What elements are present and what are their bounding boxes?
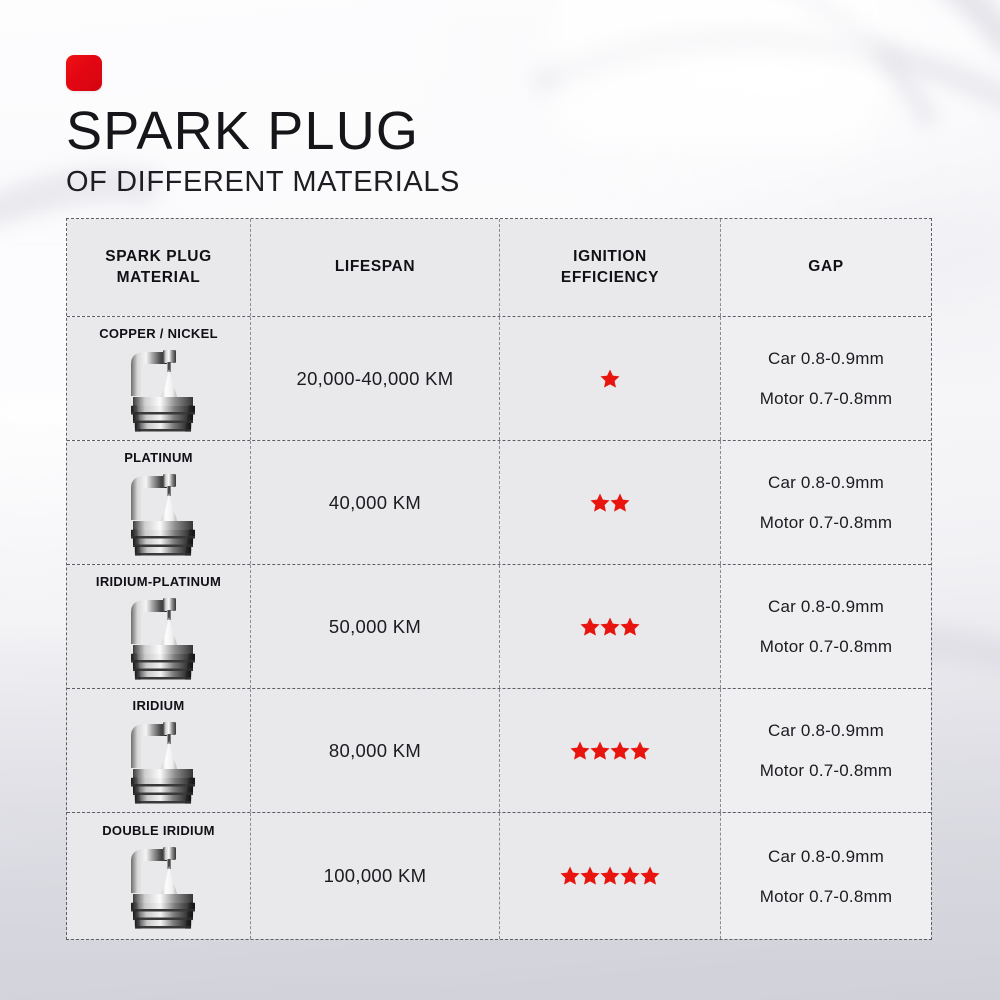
star-icon xyxy=(599,368,621,390)
ignition-star-rating xyxy=(580,616,640,638)
cell-lifespan: 80,000 KM xyxy=(251,689,500,812)
cell-gap: Car 0.8-0.9mmMotor 0.7-0.8mm xyxy=(721,317,931,440)
ignition-star-rating xyxy=(590,492,630,514)
material-label: PLATINUM xyxy=(124,450,193,465)
star-icon xyxy=(629,740,651,762)
gap-motor-value: Motor 0.7-0.8mm xyxy=(760,888,892,905)
page-subtitle: OF DIFFERENT MATERIALS xyxy=(66,166,460,199)
gap-car-value: Car 0.8-0.9mm xyxy=(768,474,884,491)
column-header-material: SPARK PLUG MATERIAL xyxy=(67,219,251,316)
column-header-lifespan: LIFESPAN xyxy=(251,219,500,316)
column-header-gap: GAP xyxy=(721,219,931,316)
cell-gap: Car 0.8-0.9mmMotor 0.7-0.8mm xyxy=(721,689,931,812)
star-icon xyxy=(569,740,591,762)
star-icon xyxy=(579,616,601,638)
table-row: DOUBLE IRIDIUM 100,000 KMCar 0.8-0.9mmMo… xyxy=(67,813,931,939)
star-icon xyxy=(589,492,611,514)
column-header-label: SPARK PLUG MATERIAL xyxy=(105,247,211,289)
gap-motor-value: Motor 0.7-0.8mm xyxy=(760,638,892,655)
cell-material: COPPER / NICKEL xyxy=(67,317,251,440)
cell-lifespan: 40,000 KM xyxy=(251,441,500,564)
star-icon xyxy=(559,865,581,887)
star-icon xyxy=(589,740,611,762)
cell-material: DOUBLE IRIDIUM xyxy=(67,813,251,939)
cell-material: IRIDIUM xyxy=(67,689,251,812)
table-header-row: SPARK PLUG MATERIAL LIFESPAN IGNITION EF… xyxy=(67,219,931,317)
ignition-star-rating xyxy=(600,368,620,390)
gap-car-value: Car 0.8-0.9mm xyxy=(768,848,884,865)
lifespan-value: 100,000 KM xyxy=(324,865,427,887)
star-icon xyxy=(609,740,631,762)
star-icon xyxy=(609,492,631,514)
table-row: IRIDIUM 80,000 KMCar 0.8-0.9mmMotor 0.7-… xyxy=(67,689,931,813)
gap-car-value: Car 0.8-0.9mm xyxy=(768,350,884,367)
lifespan-value: 20,000-40,000 KM xyxy=(296,368,453,390)
cell-lifespan: 50,000 KM xyxy=(251,565,500,688)
gap-motor-value: Motor 0.7-0.8mm xyxy=(760,762,892,779)
table-row: COPPER / NICKEL 20,000-40,000 KMCar 0.8-… xyxy=(67,317,931,441)
star-icon xyxy=(599,865,621,887)
ignition-star-rating xyxy=(570,740,650,762)
cell-ignition-efficiency xyxy=(500,813,721,939)
column-header-label: IGNITION EFFICIENCY xyxy=(561,247,659,289)
gap-car-value: Car 0.8-0.9mm xyxy=(768,722,884,739)
cell-gap: Car 0.8-0.9mmMotor 0.7-0.8mm xyxy=(721,813,931,939)
spark-plug-image xyxy=(107,714,211,806)
gap-motor-value: Motor 0.7-0.8mm xyxy=(760,514,892,531)
spark-plug-image xyxy=(107,466,211,558)
material-label: DOUBLE IRIDIUM xyxy=(102,823,215,838)
cell-lifespan: 100,000 KM xyxy=(251,813,500,939)
column-header-ignition-efficiency: IGNITION EFFICIENCY xyxy=(500,219,721,316)
cell-ignition-efficiency xyxy=(500,689,721,812)
spark-plug-image xyxy=(107,590,211,682)
star-icon xyxy=(619,865,641,887)
cell-material: IRIDIUM-PLATINUM xyxy=(67,565,251,688)
spark-plug-image xyxy=(107,839,211,931)
gap-car-value: Car 0.8-0.9mm xyxy=(768,598,884,615)
table-row: PLATINUM 40,000 KMCar 0.8-0.9mmMotor 0.7… xyxy=(67,441,931,565)
star-icon xyxy=(639,865,661,887)
lifespan-value: 80,000 KM xyxy=(329,740,421,762)
comparison-table: SPARK PLUG MATERIAL LIFESPAN IGNITION EF… xyxy=(66,218,932,940)
cell-material: PLATINUM xyxy=(67,441,251,564)
cell-ignition-efficiency xyxy=(500,565,721,688)
material-label: IRIDIUM xyxy=(133,698,185,713)
table-body: COPPER / NICKEL 20,000-40,000 KMCar 0.8-… xyxy=(67,317,931,939)
table-row: IRIDIUM-PLATINUM 50,000 KMCar 0.8-0.9mmM… xyxy=(67,565,931,689)
column-header-label: GAP xyxy=(808,257,843,278)
cell-gap: Car 0.8-0.9mmMotor 0.7-0.8mm xyxy=(721,565,931,688)
cell-ignition-efficiency xyxy=(500,441,721,564)
material-label: IRIDIUM-PLATINUM xyxy=(96,574,221,589)
material-label: COPPER / NICKEL xyxy=(99,326,218,341)
lifespan-value: 50,000 KM xyxy=(329,616,421,638)
red-square-logo-icon xyxy=(66,55,102,91)
spark-plug-image xyxy=(107,342,211,434)
ignition-star-rating xyxy=(560,865,660,887)
star-icon xyxy=(619,616,641,638)
page-header: SPARK PLUG OF DIFFERENT MATERIALS xyxy=(66,55,460,199)
cell-ignition-efficiency xyxy=(500,317,721,440)
cell-gap: Car 0.8-0.9mmMotor 0.7-0.8mm xyxy=(721,441,931,564)
cell-lifespan: 20,000-40,000 KM xyxy=(251,317,500,440)
page-title: SPARK PLUG xyxy=(66,104,460,159)
column-header-label: LIFESPAN xyxy=(335,257,415,278)
lifespan-value: 40,000 KM xyxy=(329,492,421,514)
gap-motor-value: Motor 0.7-0.8mm xyxy=(760,390,892,407)
star-icon xyxy=(579,865,601,887)
star-icon xyxy=(599,616,621,638)
